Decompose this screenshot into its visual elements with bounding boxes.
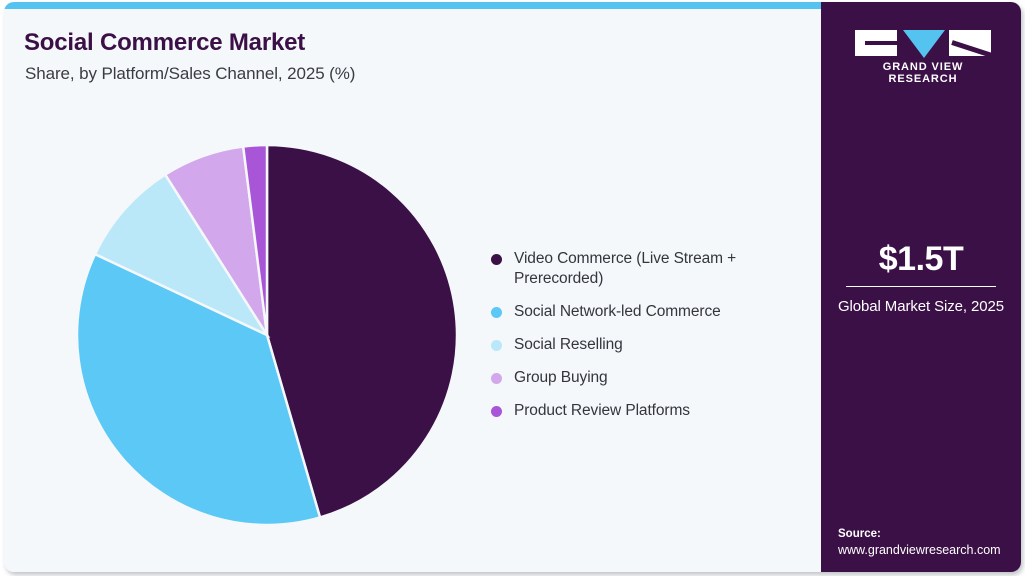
stat-divider [846,286,996,287]
legend-item[interactable]: Social Network-led Commerce [491,302,801,322]
legend-swatch-icon [491,373,502,384]
logo-letter-g-icon [855,30,897,56]
infographic-card: Social Commerce Market Share, by Platfor… [4,2,1021,572]
legend-swatch-icon [491,307,502,318]
legend-item-label: Social Reselling [514,335,623,355]
pie-chart-svg [72,140,462,530]
legend-item[interactable]: Video Commerce (Live Stream + Prerecorde… [491,249,801,289]
source-block: Source: www.grandviewresearch.com [838,526,1018,559]
chart-legend: Video Commerce (Live Stream + Prerecorde… [491,249,801,434]
source-url[interactable]: www.grandviewresearch.com [838,542,1018,559]
legend-item-label: Group Buying [514,368,608,388]
chart-panel: Social Commerce Market Share, by Platfor… [4,9,821,572]
chart-infographic: Social Commerce Market Share, by Platfor… [0,0,1025,576]
legend-item-label: Product Review Platforms [514,401,690,421]
global-market-size-stat: $1.5T Global Market Size, 2025 [833,240,1009,317]
legend-swatch-icon [491,340,502,351]
legend-swatch-icon [491,254,502,265]
pie-chart [72,140,462,530]
stat-value: $1.5T [833,240,1009,278]
legend-item-label: Video Commerce (Live Stream + Prerecorde… [514,249,801,289]
source-label: Source: [838,526,1018,542]
logo-wordmark: GRAND VIEW RESEARCH [853,61,993,85]
stat-caption: Global Market Size, 2025 [833,296,1009,317]
logo-mark [853,30,993,56]
legend-item[interactable]: Social Reselling [491,335,801,355]
brand-panel: GRAND VIEW RESEARCH $1.5T Global Market … [821,2,1021,572]
legend-item[interactable]: Product Review Platforms [491,401,801,421]
page-title: Social Commerce Market [24,29,305,57]
legend-item[interactable]: Group Buying [491,368,801,388]
logo-letter-v-triangle-icon [903,30,945,58]
page-subtitle: Share, by Platform/Sales Channel, 2025 (… [25,64,355,84]
grand-view-research-logo: GRAND VIEW RESEARCH [853,30,993,78]
accent-top-bar [4,2,821,9]
legend-item-label: Social Network-led Commerce [514,302,721,322]
logo-letter-r-icon [949,30,991,56]
legend-swatch-icon [491,406,502,417]
